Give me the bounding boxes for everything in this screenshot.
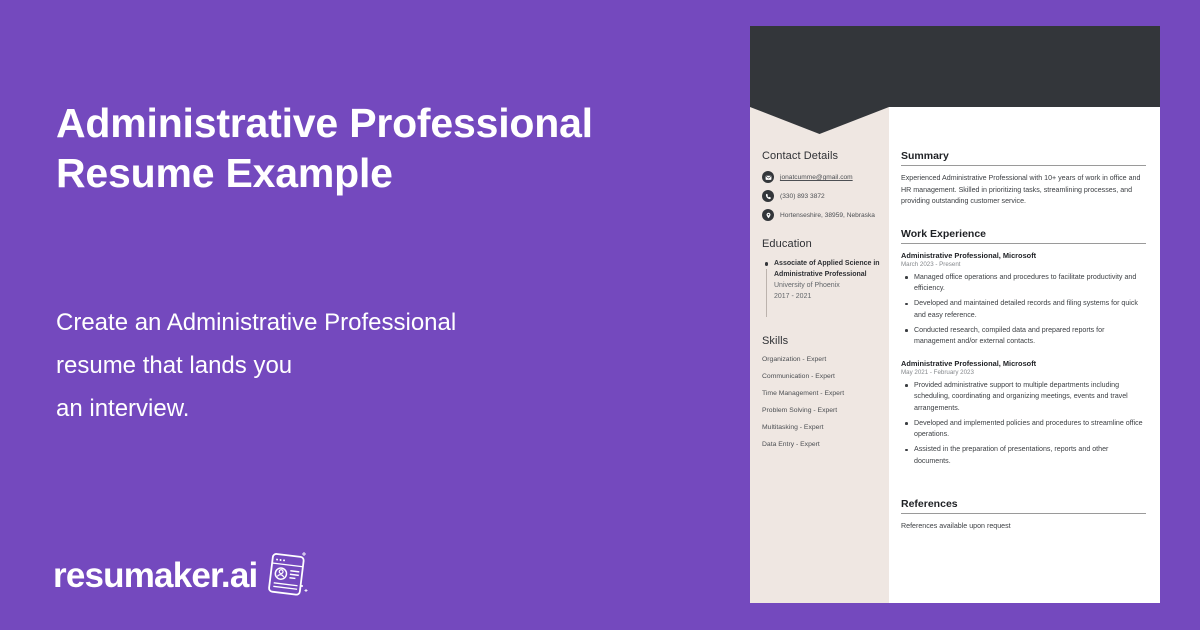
skill-item: Problem Solving - Expert <box>762 407 882 414</box>
contact-phone-text[interactable]: (330) 893 3872 <box>780 190 825 202</box>
contact-address-text: Hortenseshire, 38959, Nebraska <box>780 209 875 221</box>
resume-document-icon <box>258 549 310 602</box>
headline-line-2: Resume Example <box>56 148 656 198</box>
logo-wordmark: resumaker.ai <box>53 558 257 593</box>
resumaker-logo[interactable]: resumaker.ai <box>53 549 310 602</box>
envelope-icon <box>762 171 774 183</box>
sidebar-content: Contact Details jonatcumme@gmail.com (33… <box>762 150 882 458</box>
job-bullet: Assisted in the preparation of presentat… <box>901 444 1146 467</box>
job-dates: March 2023 - Present <box>901 261 1146 268</box>
education-heading: Education <box>762 238 882 250</box>
education-section: Education Associate of Applied Science i… <box>762 238 882 317</box>
job-bullet: Conducted research, compiled data and pr… <box>901 325 1146 348</box>
contact-item-address: Hortenseshire, 38959, Nebraska <box>762 209 882 221</box>
skill-item: Multitasking - Expert <box>762 424 882 431</box>
job-title: Administrative Professional, Microsoft <box>901 251 1146 260</box>
education-timeline-marker <box>762 259 771 317</box>
education-years: 2017 - 2021 <box>774 292 882 303</box>
headline-line-1: Administrative Professional <box>56 98 656 148</box>
skill-item: Organization - Expert <box>762 356 882 363</box>
resume-preview-card[interactable]: Jonat Cumme Administrative Professional … <box>750 26 1160 603</box>
contact-email-text[interactable]: jonatcumme@gmail.com <box>780 171 853 183</box>
job-bullet-list: Managed office operations and procedures… <box>901 272 1146 348</box>
references-heading: References <box>901 498 1146 514</box>
job-dates: May 2021 - February 2023 <box>901 369 1146 376</box>
skill-item: Communication - Expert <box>762 373 882 380</box>
subtitle-line-3: an interview. <box>56 387 616 430</box>
contact-item-email[interactable]: jonatcumme@gmail.com <box>762 171 882 183</box>
references-text: References available upon request <box>901 521 1146 533</box>
education-degree: Associate of Applied Science in Administ… <box>774 259 882 280</box>
work-experience-heading: Work Experience <box>901 228 1146 244</box>
summary-heading: Summary <box>901 150 1146 166</box>
section-spacer <box>901 478 1146 498</box>
bullet-dot-icon <box>765 262 769 266</box>
timeline-line <box>766 269 767 317</box>
skill-item: Data Entry - Expert <box>762 441 882 448</box>
job-bullet: Developed and maintained detailed record… <box>901 298 1146 321</box>
location-pin-icon <box>762 209 774 221</box>
contact-item-phone[interactable]: (330) 893 3872 <box>762 190 882 202</box>
page-title: Administrative Professional Resume Examp… <box>56 98 656 198</box>
skills-section: Skills Organization - Expert Communicati… <box>762 335 882 448</box>
job-title: Administrative Professional, Microsoft <box>901 359 1146 368</box>
education-school: University of Phoenix <box>774 281 882 292</box>
resume-main-column: Summary Experienced Administrative Profe… <box>901 150 1146 533</box>
promo-panel: Administrative Professional Resume Examp… <box>0 0 745 630</box>
work-experience-entry: Administrative Professional, Microsoft M… <box>901 251 1146 348</box>
job-bullet: Developed and implemented policies and p… <box>901 418 1146 441</box>
section-spacer <box>901 208 1146 228</box>
work-experience-entry: Administrative Professional, Microsoft M… <box>901 359 1146 468</box>
education-text: Associate of Applied Science in Administ… <box>771 259 882 302</box>
subtitle-line-2: resume that lands you <box>56 344 616 387</box>
subtitle-line-1: Create an Administrative Professional <box>56 301 616 344</box>
job-bullet: Provided administrative support to multi… <box>901 380 1146 415</box>
phone-icon <box>762 190 774 202</box>
summary-text: Experienced Administrative Professional … <box>901 173 1146 208</box>
skill-item: Time Management - Expert <box>762 390 882 397</box>
contact-details-heading: Contact Details <box>762 150 882 162</box>
resume-header-band <box>750 26 1160 107</box>
education-item: Associate of Applied Science in Administ… <box>762 259 882 317</box>
skills-heading: Skills <box>762 335 882 347</box>
job-bullet-list: Provided administrative support to multi… <box>901 380 1146 468</box>
promo-subtitle: Create an Administrative Professional re… <box>56 301 616 430</box>
job-bullet: Managed office operations and procedures… <box>901 272 1146 295</box>
